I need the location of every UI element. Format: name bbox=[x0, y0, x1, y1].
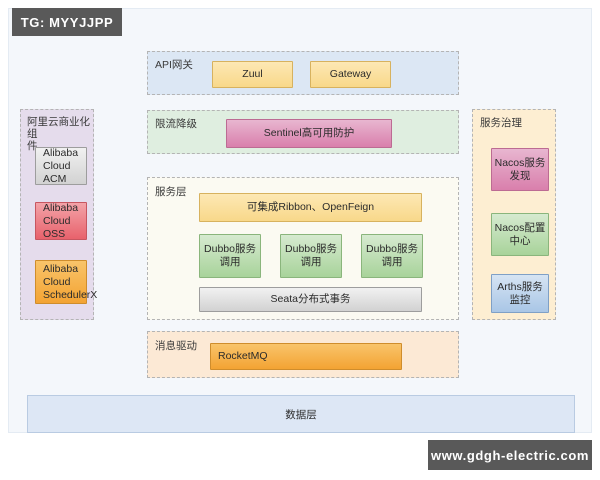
node-gateway[interactable]: Gateway bbox=[310, 61, 391, 88]
node-dubbo-service-2[interactable]: Dubbo服务 调用 bbox=[280, 234, 342, 278]
node-dubbo-service-1[interactable]: Dubbo服务 调用 bbox=[199, 234, 261, 278]
node-seata-transaction[interactable]: Seata分布式事务 bbox=[199, 287, 422, 312]
watermark-top-left: TG: MYYJJPP bbox=[12, 8, 122, 36]
group-alibaba-cloud: 阿里云商业化组 件 Alibaba Cloud ACM Alibaba Clou… bbox=[20, 109, 94, 320]
group-rate-limit: 限流降级 Sentinel高可用防护 bbox=[147, 110, 459, 154]
diagram-canvas: 阿里云商业化组 件 Alibaba Cloud ACM Alibaba Clou… bbox=[8, 8, 592, 433]
node-alibaba-cloud-acm[interactable]: Alibaba Cloud ACM bbox=[35, 147, 87, 185]
watermark-bottom-right: www.gdgh-electric.com bbox=[428, 440, 592, 470]
node-data-layer[interactable]: 数据层 bbox=[27, 395, 575, 433]
node-alibaba-cloud-oss[interactable]: Alibaba Cloud OSS bbox=[35, 202, 87, 240]
group-service-layer: 服务层 可集成Ribbon、OpenFeign Dubbo服务 调用 Dubbo… bbox=[147, 177, 459, 320]
group-message-driven: 消息驱动 RocketMQ bbox=[147, 331, 459, 378]
group-rate-limit-title: 限流降级 bbox=[155, 118, 197, 130]
group-service-layer-title: 服务层 bbox=[155, 186, 187, 198]
group-service-governance-title: 服务治理 bbox=[480, 117, 522, 129]
group-message-driven-title: 消息驱动 bbox=[155, 340, 197, 352]
node-sentinel[interactable]: Sentinel高可用防护 bbox=[226, 119, 392, 148]
node-rocketmq[interactable]: RocketMQ bbox=[210, 343, 402, 370]
group-service-governance: 服务治理 Nacos服务 发现 Nacos配置 中心 Arths服务 监控 bbox=[472, 109, 556, 320]
node-alibaba-cloud-schedulerx[interactable]: Alibaba Cloud SchedulerX bbox=[35, 260, 87, 304]
node-arths-monitor[interactable]: Arths服务 监控 bbox=[491, 274, 549, 313]
node-nacos-discovery[interactable]: Nacos服务 发现 bbox=[491, 148, 549, 191]
node-dubbo-service-3[interactable]: Dubbo服务 调用 bbox=[361, 234, 423, 278]
node-zuul[interactable]: Zuul bbox=[212, 61, 293, 88]
node-ribbon-openfeign[interactable]: 可集成Ribbon、OpenFeign bbox=[199, 193, 422, 222]
group-api-gateway: API网关 Zuul Gateway bbox=[147, 51, 459, 95]
group-api-gateway-title: API网关 bbox=[155, 59, 193, 71]
node-nacos-config[interactable]: Nacos配置 中心 bbox=[491, 213, 549, 256]
